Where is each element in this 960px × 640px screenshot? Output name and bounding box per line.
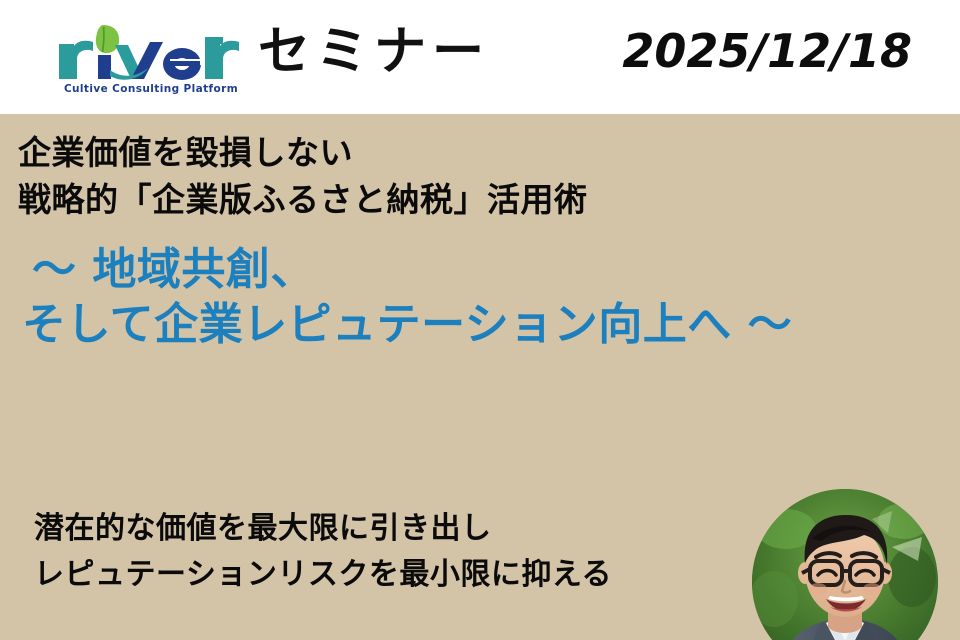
title-line-2: 戦略的「企業版ふるさと納税」活用術 [18,177,718,224]
river-logo: Cultive Consulting Platform [55,22,245,104]
subtitle-line-2: そして企業レピュテーション向上へ 〜 [22,297,942,352]
subtitle-line-1: 〜 地域共創、 [22,242,942,297]
seminar-heading: セミナー [258,26,490,78]
banner-header: Cultive Consulting Platform セミナー 2025/12… [0,0,960,114]
tagline-line-2: レピュテーションリスクを最小限に抑える [34,552,714,598]
seminar-banner: Cultive Consulting Platform セミナー 2025/12… [0,0,960,640]
tagline-line-1: 潜在的な価値を最大限に引き出し [34,506,714,552]
seminar-title: 企業価値を毀損しない 戦略的「企業版ふるさと納税」活用術 [18,130,718,224]
river-wordmark-icon [55,22,245,80]
seminar-tagline: 潜在的な価値を最大限に引き出し レピュテーションリスクを最小限に抑える [34,506,714,597]
seminar-subtitle: 〜 地域共創、 そして企業レピュテーション向上へ 〜 [22,242,942,353]
speaker-portrait [752,489,938,640]
speaker-photo-image [752,489,938,640]
logo-tagline: Cultive Consulting Platform [57,83,245,95]
title-line-1: 企業価値を毀損しない [18,130,718,177]
seminar-date: 2025/12/18 [622,28,912,74]
banner-body: 企業価値を毀損しない 戦略的「企業版ふるさと納税」活用術 〜 地域共創、 そして… [0,114,960,640]
